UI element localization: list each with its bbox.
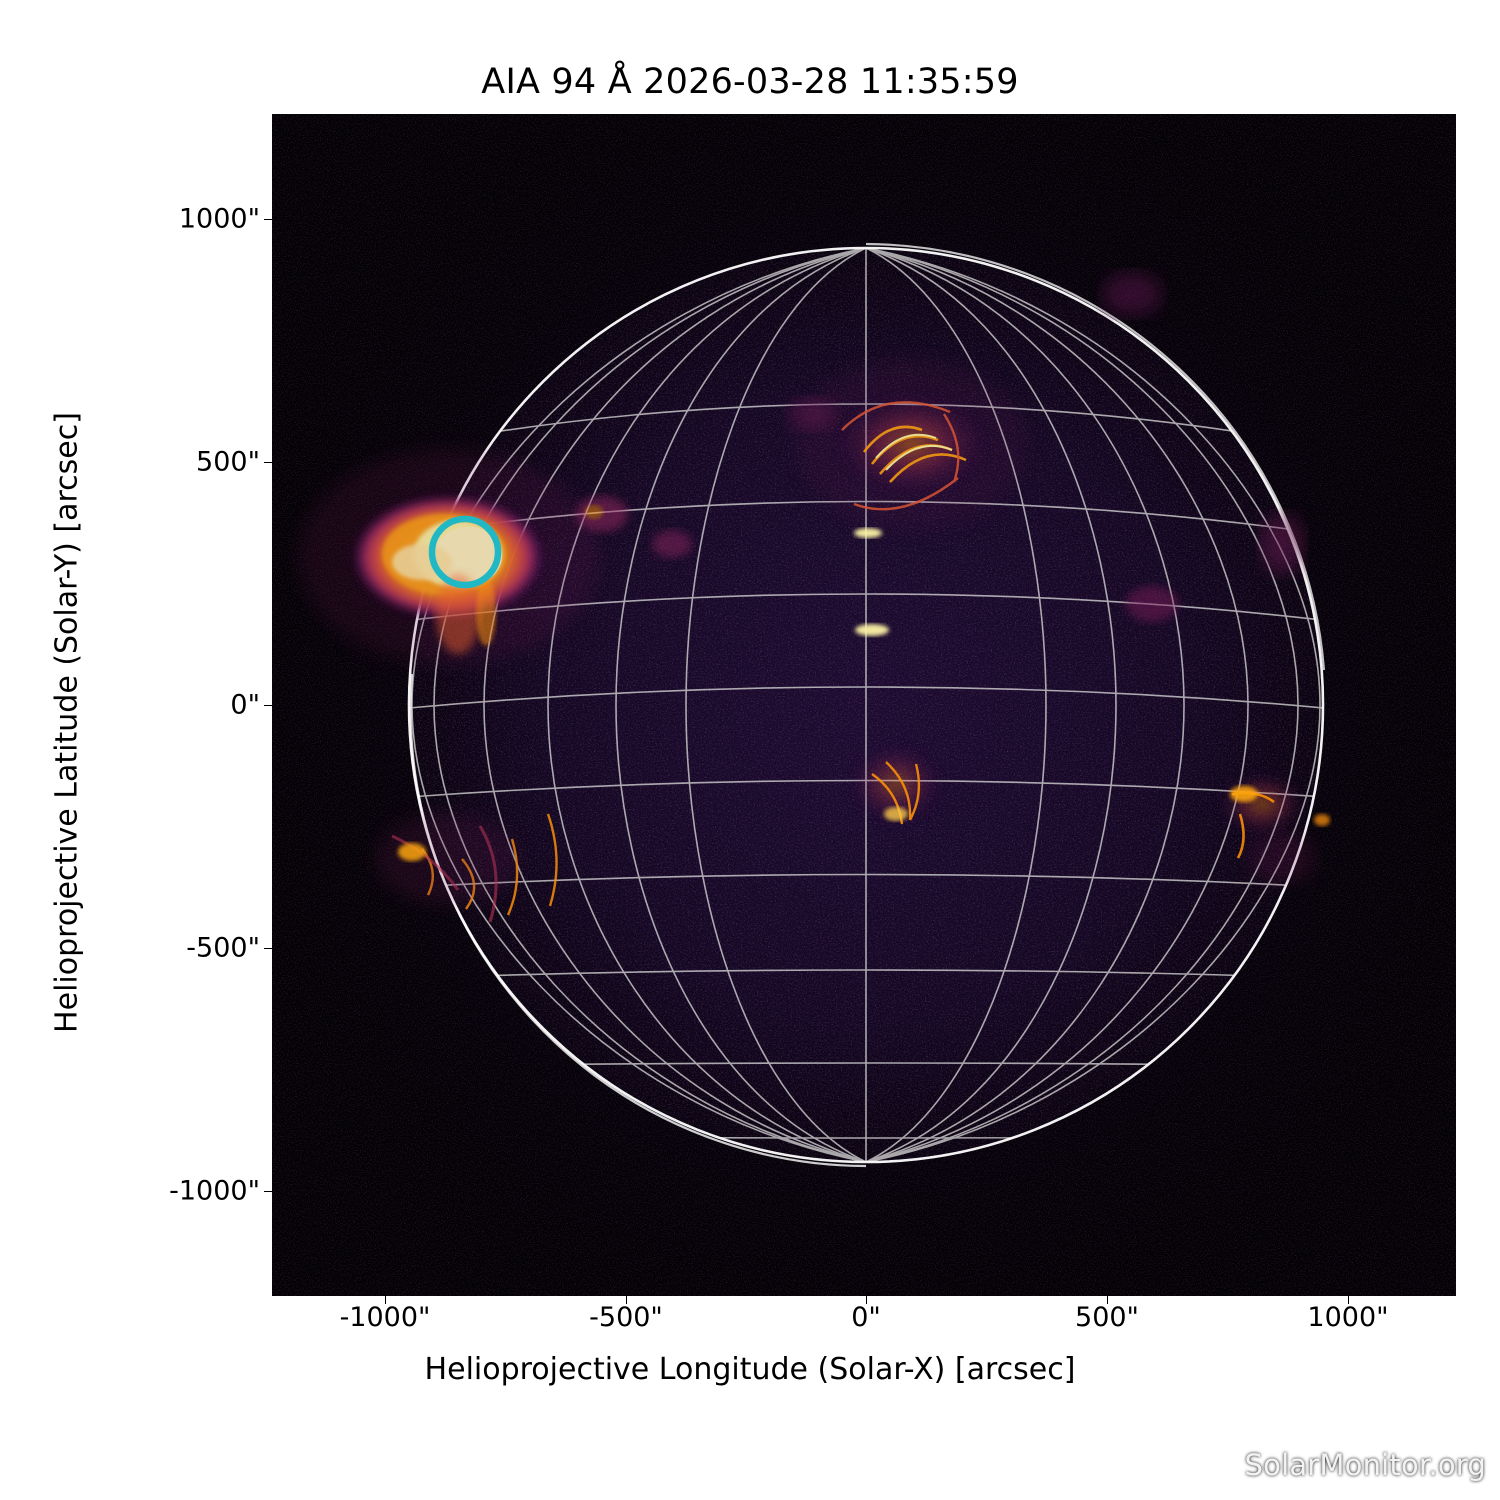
y-axis-label: Helioprojective Latitude (Solar-Y) [arcs… xyxy=(50,223,85,1223)
solar-disk-render xyxy=(272,114,1456,1296)
y-tick-label: -1000" xyxy=(169,1176,260,1207)
y-tick-label: 0" xyxy=(230,690,260,721)
feature-bright-point-center xyxy=(854,528,882,538)
y-tick-mark xyxy=(264,948,272,949)
y-tick-label: 1000" xyxy=(179,204,260,235)
page-title: AIA 94 Å 2026-03-28 11:35:59 xyxy=(0,62,1500,102)
x-tick-label: 0" xyxy=(851,1302,881,1333)
feature-active-region-south-center xyxy=(848,742,944,826)
y-tick-label: 500" xyxy=(196,447,260,478)
y-tick-mark xyxy=(264,705,272,706)
image-plot-area[interactable] xyxy=(272,114,1456,1296)
watermark-label: SolarMonitor.org xyxy=(1245,1448,1486,1482)
y-tick-mark xyxy=(264,219,272,220)
x-axis-label: Helioprojective Longitude (Solar-X) [arc… xyxy=(0,1352,1500,1387)
x-tick-label: -1000" xyxy=(340,1302,431,1333)
y-tick-label: -500" xyxy=(186,933,260,964)
y-tick-mark xyxy=(264,1191,272,1192)
x-tick-label: -500" xyxy=(589,1302,663,1333)
x-tick-label: 500" xyxy=(1075,1302,1139,1333)
y-tick-mark xyxy=(264,462,272,463)
x-tick-label: 1000" xyxy=(1307,1302,1388,1333)
solar-image-figure: AIA 94 Å 2026-03-28 11:35:59 xyxy=(0,0,1500,1500)
feature-limb-flare xyxy=(298,449,598,665)
